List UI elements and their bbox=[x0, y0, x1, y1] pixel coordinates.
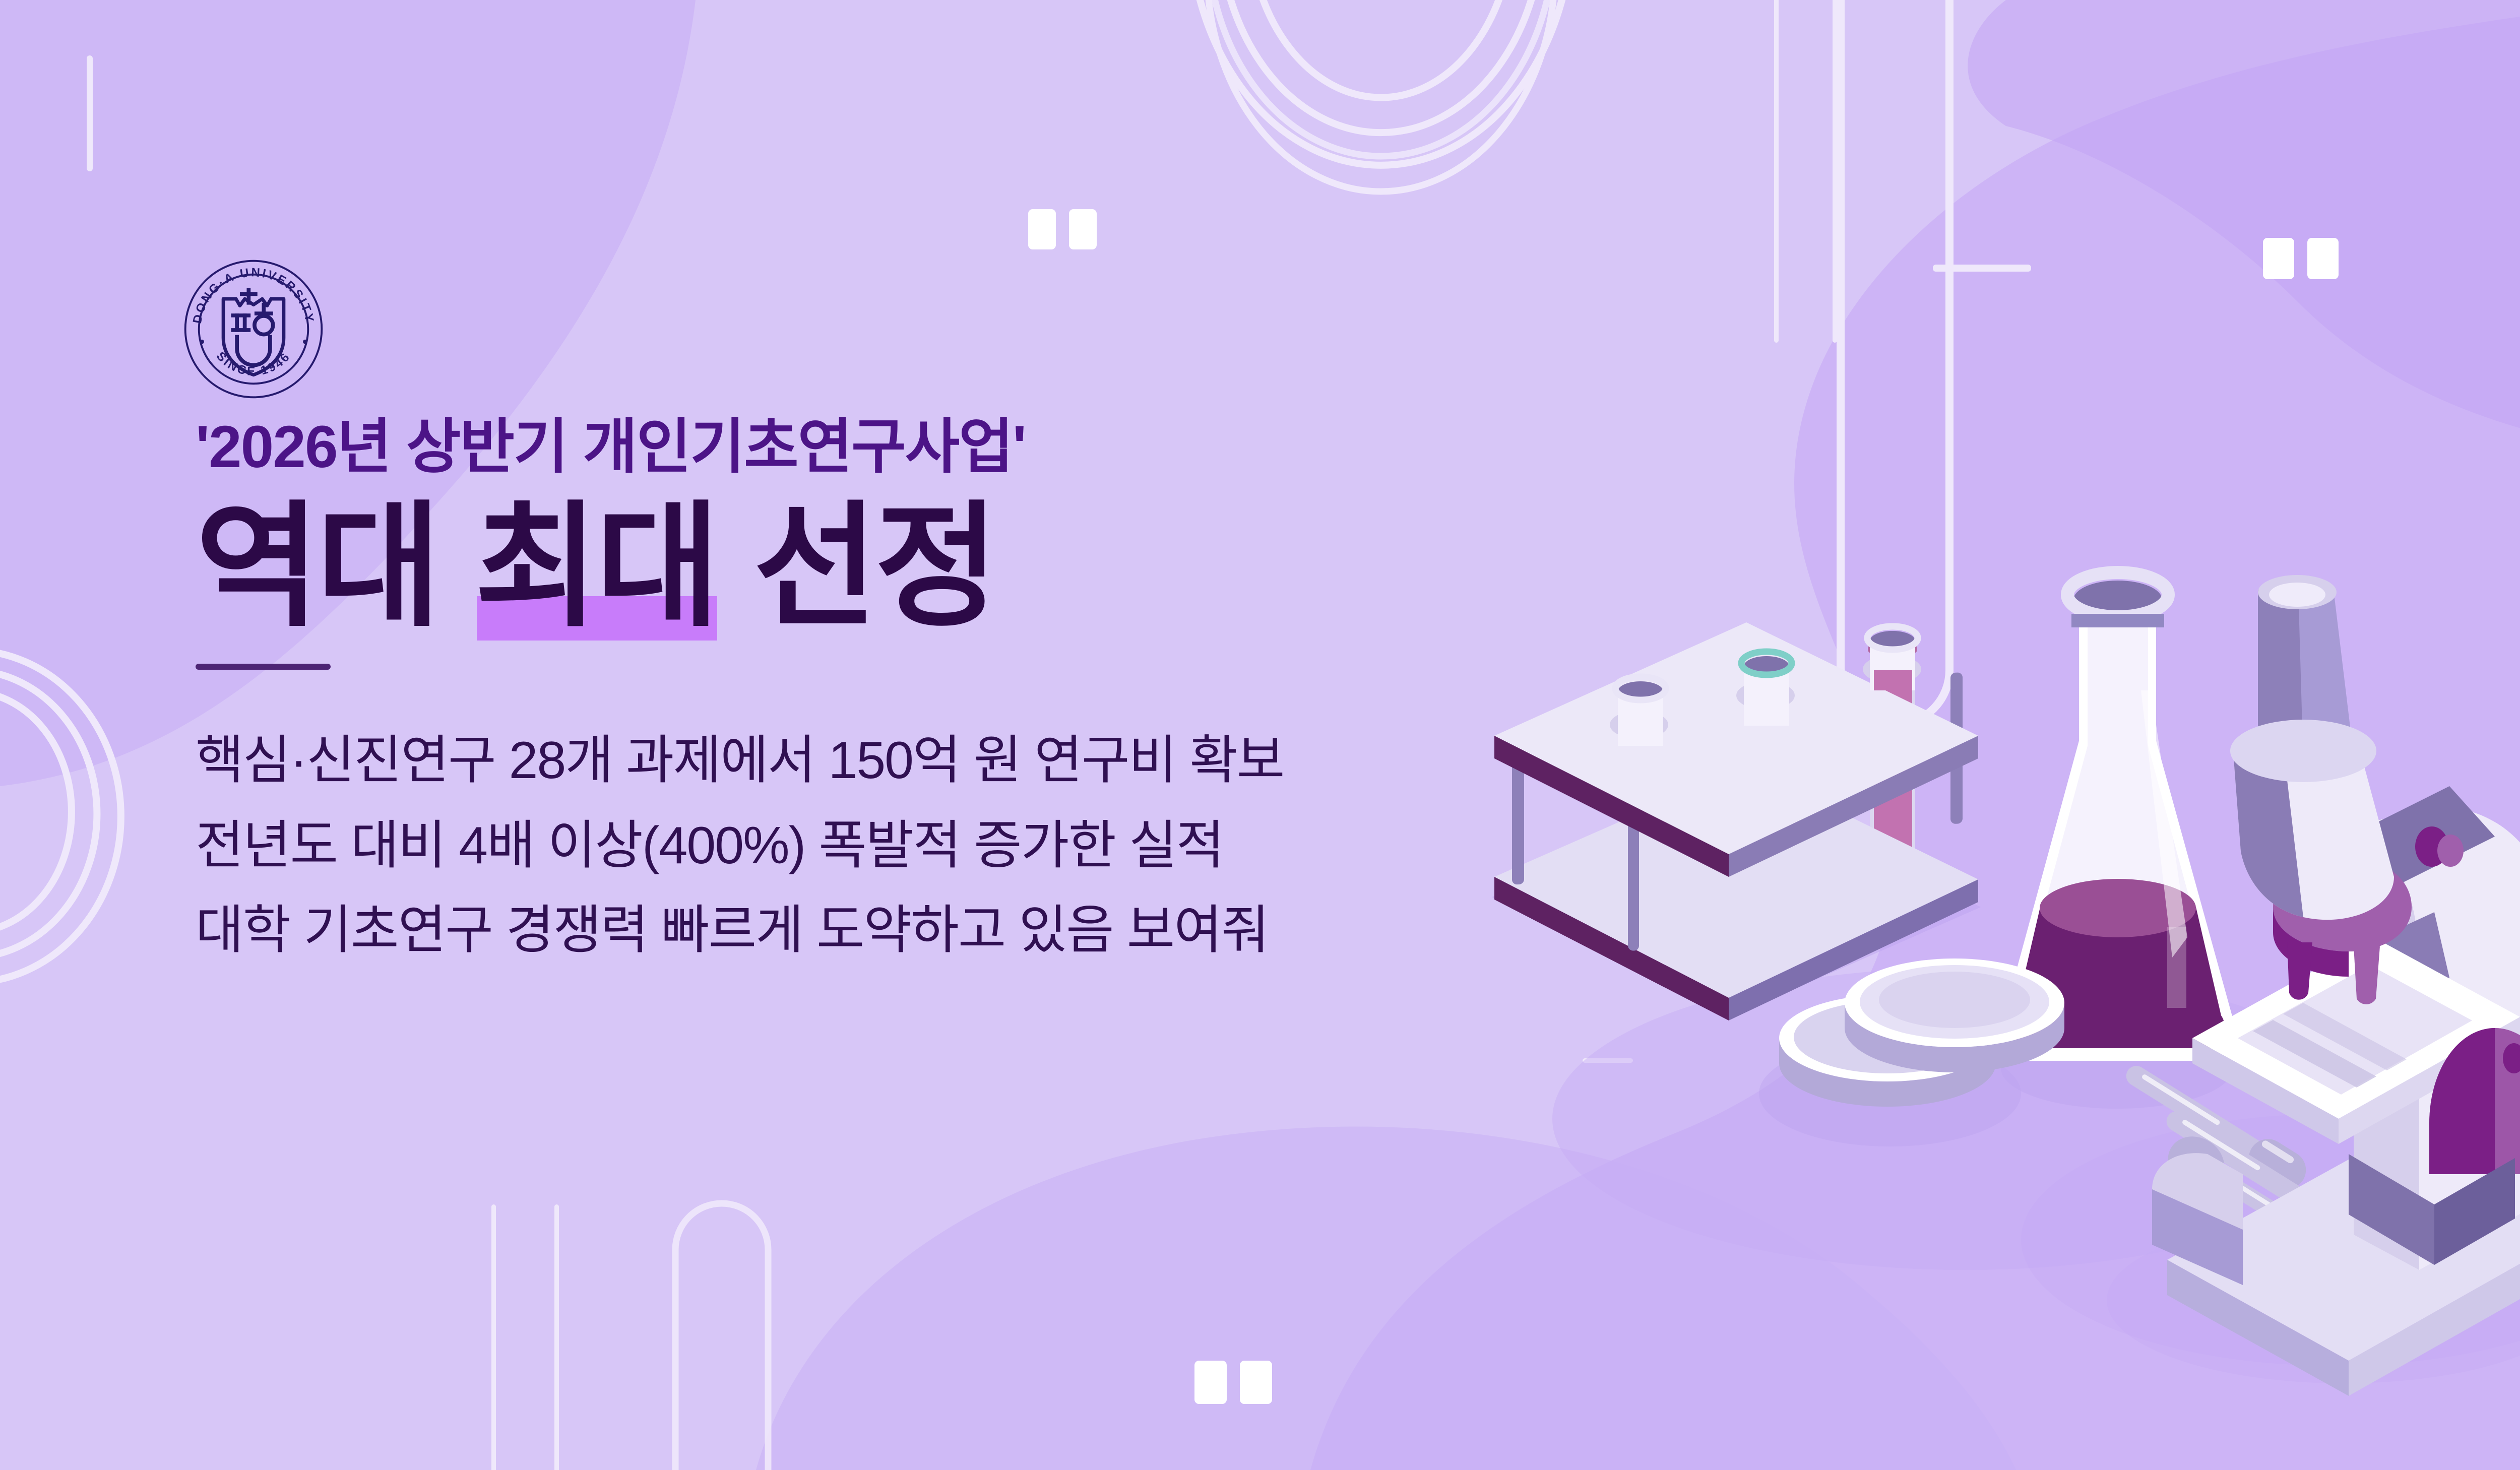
section-divider bbox=[196, 664, 331, 670]
decorative-line-right-2 bbox=[1833, 0, 1837, 343]
square-pair-bottom bbox=[1194, 1361, 1272, 1404]
headline-after: 선정 bbox=[719, 491, 996, 642]
decorative-line-bottom-1 bbox=[491, 1204, 496, 1470]
decorative-square bbox=[1028, 209, 1056, 249]
laboratory-illustration bbox=[1446, 524, 2520, 1431]
square-pair-top-right bbox=[2263, 238, 2339, 279]
decorative-line-top-right bbox=[1933, 265, 2031, 272]
headline: 역대 최대 선정 bbox=[196, 496, 996, 637]
headline-highlight-wrapper: 최대 bbox=[473, 496, 719, 637]
square-pair-top bbox=[1028, 209, 1097, 249]
body-line-2: 전년도 대비 4배 이상(400%) 폭발적 증가한 실적 bbox=[196, 803, 1506, 888]
body-line-3: 대학 기초연구 경쟁력 빠르게 도약하고 있음 보여줘 bbox=[196, 888, 1506, 973]
headline-highlight: 최대 bbox=[475, 491, 717, 642]
university-seal-logo: DONG·A UNIVERSITY SINCE 1946 bbox=[180, 256, 327, 402]
banner-text-content: '2026년 상반기 개인기초연구사업' 역대 최대 선정 핵심·신진연구 28… bbox=[196, 413, 1506, 973]
decorative-square bbox=[2263, 238, 2294, 279]
decorative-line-bottom-2 bbox=[554, 1204, 559, 1470]
decorative-square bbox=[1069, 209, 1097, 249]
test-tube-rack bbox=[1492, 622, 1981, 1020]
decorative-square bbox=[1240, 1361, 1272, 1404]
research-achievement-banner: DONG·A UNIVERSITY SINCE 1946 bbox=[0, 0, 2520, 1470]
decorative-line-right-1 bbox=[1774, 0, 1779, 343]
eyebrow-program-title: '2026년 상반기 개인기초연구사업' bbox=[196, 413, 1506, 482]
body-line-1: 핵심·신진연구 28개 과제에서 150억 원 연구비 확보 bbox=[196, 718, 1506, 803]
body-text-block: 핵심·신진연구 28개 과제에서 150억 원 연구비 확보 전년도 대비 4배… bbox=[196, 718, 1506, 973]
headline-before: 역대 bbox=[196, 491, 473, 642]
decorative-square bbox=[1194, 1361, 1227, 1404]
decorative-line-top-left bbox=[87, 55, 93, 171]
decorative-square bbox=[2307, 238, 2339, 279]
